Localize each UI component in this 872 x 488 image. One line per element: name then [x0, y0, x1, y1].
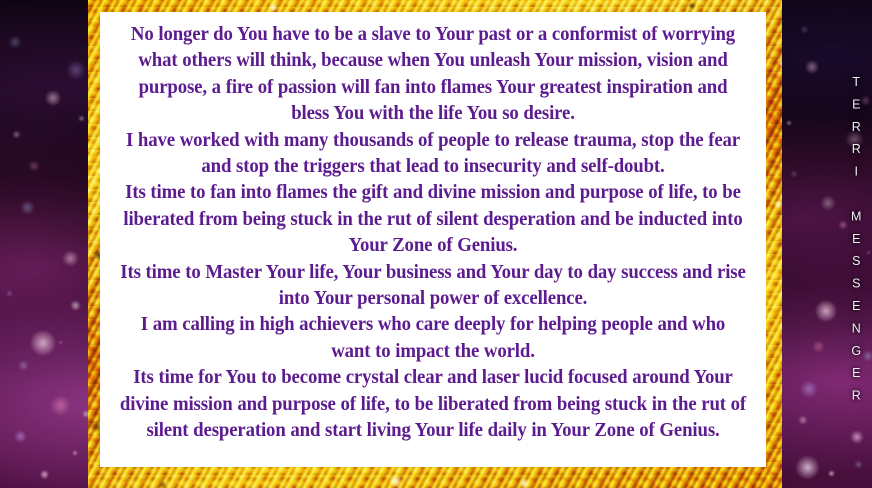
paragraph-4: Its time to Master Your life, Your busin… [119, 260, 747, 313]
paragraph-5: I am calling in high achievers who care … [119, 312, 747, 365]
presentation-slide: No longer do You have to be a slave to Y… [0, 0, 872, 488]
paragraph-3: Its time to fan into flames the gift and… [119, 180, 747, 259]
paragraph-2: I have worked with many thousands of peo… [119, 128, 747, 181]
text-panel: No longer do You have to be a slave to Y… [100, 12, 766, 467]
paragraph-6: Its time for You to become crystal clear… [119, 365, 747, 444]
quote-block: No longer do You have to be a slave to Y… [119, 22, 747, 445]
paragraph-1: No longer do You have to be a slave to Y… [119, 22, 747, 128]
